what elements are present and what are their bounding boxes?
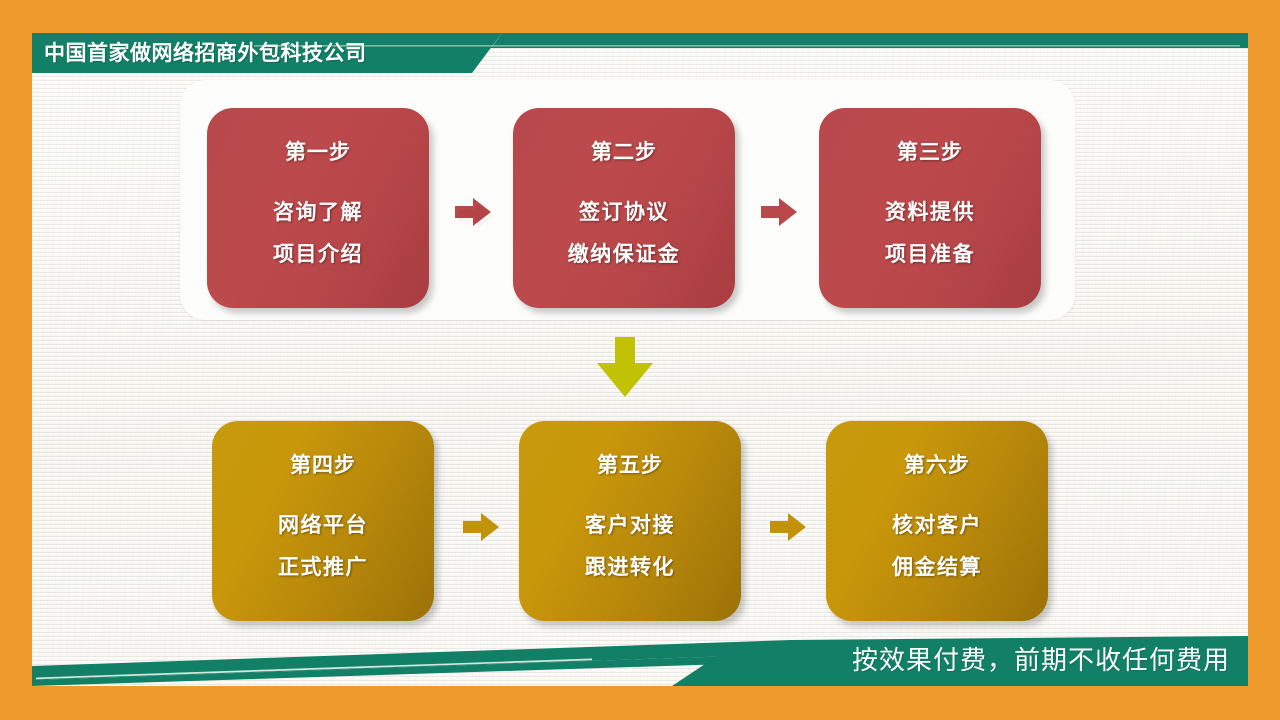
step-line-5-2: 跟进转化: [585, 551, 675, 581]
step-line-6-2: 佣金结算: [892, 551, 982, 581]
step-line-5-1: 客户对接: [585, 509, 675, 539]
step-body-4: 网络平台 正式推广: [278, 509, 368, 581]
step-card-4[interactable]: 第四步 网络平台 正式推广: [212, 421, 434, 621]
step-title-2: 第二步: [591, 136, 657, 166]
step-line-4-2: 正式推广: [278, 551, 368, 581]
step-title-1: 第一步: [285, 136, 351, 166]
arrow-right-icon-2: [757, 190, 801, 234]
footer-tagline: 按效果付费，前期不收任何费用: [852, 640, 1230, 680]
step-card-2[interactable]: 第二步 签订协议 缴纳保证金: [513, 108, 735, 308]
step-card-3[interactable]: 第三步 资料提供 项目准备: [819, 108, 1041, 308]
step-line-3-1: 资料提供: [885, 196, 975, 226]
step-body-5: 客户对接 跟进转化: [585, 509, 675, 581]
arrow-right-icon-4: [766, 505, 810, 549]
step-line-3-2: 项目准备: [885, 238, 975, 268]
step-title-6: 第六步: [904, 449, 970, 479]
step-line-2-2: 缴纳保证金: [568, 238, 681, 268]
step-body-2: 签订协议 缴纳保证金: [568, 196, 681, 268]
step-card-1[interactable]: 第一步 咨询了解 项目介绍: [207, 108, 429, 308]
arrow-down-icon: [591, 337, 657, 399]
step-title-5: 第五步: [597, 449, 663, 479]
step-line-1-2: 项目介绍: [273, 238, 363, 268]
arrow-right-icon-3: [459, 505, 503, 549]
step-line-6-1: 核对客户: [892, 509, 982, 539]
step-line-1-1: 咨询了解: [273, 196, 363, 226]
step-body-1: 咨询了解 项目介绍: [273, 196, 363, 268]
slide-root: 第一步 咨询了解 项目介绍 第二步 签订协议 缴纳保证金 第三步 资料提供 项目…: [0, 0, 1280, 720]
step-card-5[interactable]: 第五步 客户对接 跟进转化: [519, 421, 741, 621]
arrow-right-icon-1: [451, 190, 495, 234]
step-line-2-1: 签订协议: [579, 196, 669, 226]
page-title: 中国首家做网络招商外包科技公司: [44, 36, 367, 71]
step-body-3: 资料提供 项目准备: [885, 196, 975, 268]
step-body-6: 核对客户 佣金结算: [892, 509, 982, 581]
step-card-6[interactable]: 第六步 核对客户 佣金结算: [826, 421, 1048, 621]
step-title-3: 第三步: [897, 136, 963, 166]
step-title-4: 第四步: [290, 449, 356, 479]
step-line-4-1: 网络平台: [278, 509, 368, 539]
